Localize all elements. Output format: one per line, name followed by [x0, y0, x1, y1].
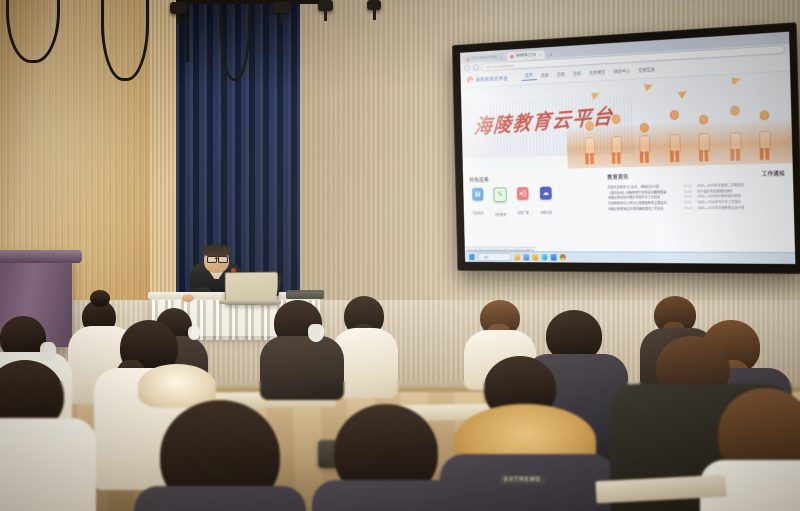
- app-tile[interactable]: ✎ 同步备课: [492, 187, 509, 220]
- site-brand[interactable]: 海陵教育云平台: [467, 74, 508, 83]
- hair-bun: [90, 290, 110, 307]
- nav-item-experience-center[interactable]: 体验中心: [609, 68, 634, 75]
- search-icon: ⌕: [481, 255, 482, 259]
- app-label: 校园广播: [518, 211, 529, 215]
- news-date: 03-22: [684, 184, 692, 189]
- back-arrow-icon[interactable]: [464, 65, 470, 72]
- lecture-hall-photo: 泰州市海陵区教育局 × 海陵教育云平台 × + https://yun.hled…: [0, 0, 800, 511]
- person-torso: [260, 336, 344, 400]
- notice-item[interactable]: 2025—2026学年度教研活动计划: [697, 205, 786, 211]
- featured-apps-section: 特色应用 ▤ 校园宣传 ✎ 同步备课 ◂)): [469, 173, 601, 226]
- brand-label: 海陵教育云平台: [476, 75, 509, 83]
- eyeglasses-bridge: [215, 258, 219, 259]
- news-item[interactable]: 海陵区教育局召开党风廉政建设工作会议 02-26: [608, 206, 692, 212]
- app-tile[interactable]: ◂)) 校园广播: [514, 187, 531, 220]
- app-tile[interactable]: ▤ 校园宣传: [470, 188, 487, 221]
- news-list: 网络安全教育"云"起来，海陵区这么做 03-22 《春风化雨》海陵教育开放周活动…: [608, 184, 692, 212]
- section-title-apps: 特色应用: [469, 173, 600, 183]
- search-placeholder: 搜索: [484, 255, 489, 259]
- news-title: 海陵区教育局召开党风廉政建设工作会议: [608, 206, 682, 212]
- news-date: 03-01: [684, 200, 692, 205]
- new-tab-button[interactable]: +: [547, 52, 555, 58]
- presenter-hand: [182, 294, 194, 302]
- track-light: [367, 0, 381, 10]
- flag-icon: [645, 82, 655, 92]
- mail-icon[interactable]: [551, 254, 557, 261]
- track-light: [170, 2, 187, 14]
- nav-item-apps[interactable]: 应用: [553, 72, 569, 78]
- tab-label: 海陵教育云平台: [516, 53, 537, 59]
- projection-screen: 泰州市海陵区教育局 × 海陵教育云平台 × + https://yun.hled…: [452, 22, 800, 274]
- chrome-browser-icon[interactable]: [560, 254, 566, 261]
- jacket-brand-label: EXTREME: [500, 476, 545, 484]
- nav-item-home[interactable]: 首页: [521, 73, 537, 81]
- hero-banner: 海陵教育云平台: [461, 71, 793, 171]
- lectern-top: [0, 250, 82, 263]
- tab-favicon-icon: [511, 54, 514, 58]
- edit-document-icon: ✎: [493, 187, 506, 202]
- content-sections: 特色应用 ▤ 校园宣传 ✎ 同步备课 ◂)): [463, 163, 794, 227]
- notice-list: 2025—2026学年度第二学期校历 关于组织申报课题的通知 2025—2026…: [697, 182, 786, 211]
- tab-favicon-icon: [466, 57, 469, 61]
- speaker-icon: ◂)): [517, 187, 529, 200]
- app-tile[interactable]: ☁ 海陵云盘: [537, 187, 554, 220]
- app-label: 同步备课: [495, 213, 506, 217]
- app-label: 校园宣传: [473, 211, 484, 215]
- taskbar-search-input[interactable]: ⌕ 搜索: [478, 253, 512, 261]
- nav-item-master-class[interactable]: 名师课堂: [585, 70, 609, 77]
- face-mask: [308, 324, 324, 342]
- news-more-button[interactable]: ···: [752, 172, 756, 177]
- nav-item-space[interactable]: 空间: [569, 71, 585, 77]
- news-date: 02-26: [684, 206, 692, 211]
- face-mask: [188, 326, 200, 340]
- laptop-keyboard: [219, 300, 281, 304]
- app-grid: ▤ 校园宣传 ✎ 同步备课 ◂)) 校园广播: [470, 186, 602, 221]
- news-date: 03-09: [684, 195, 692, 200]
- app-label: 海陵云盘: [541, 211, 552, 215]
- wall-pilaster: [150, 0, 176, 300]
- reload-icon[interactable]: [473, 64, 479, 71]
- weather-icon[interactable]: [514, 254, 520, 260]
- tab-label: 泰州市海陵区教育局: [471, 55, 497, 61]
- presentation-icon: ▤: [472, 188, 483, 201]
- face-mask: [40, 342, 56, 362]
- windows-taskbar: ⌕ 搜索: [465, 251, 796, 264]
- windows-start-icon[interactable]: [469, 254, 475, 260]
- lighting-track: [176, 0, 326, 4]
- track-light: [318, 0, 333, 11]
- tab-close-icon[interactable]: ×: [500, 55, 502, 59]
- edge-browser-icon[interactable]: [542, 254, 548, 260]
- swirl-logo-icon: [467, 76, 473, 84]
- desk-equipment: [286, 290, 324, 299]
- folder-icon[interactable]: [532, 254, 538, 260]
- news-columns: 网络安全教育"云"起来，海陵区这么做 03-22 《春风化雨》海陵教育开放周活动…: [608, 182, 787, 212]
- nav-item-interconnect[interactable]: 互联互通: [634, 67, 659, 74]
- news-section: 教育资讯 ··· 工作通知 网络安全教育"云"起来，海陵区这么做 03-22: [607, 169, 786, 226]
- cloud-icon: ☁: [540, 187, 552, 200]
- flag-icon: [732, 75, 742, 85]
- notice-title: 2025—2026学年度教研活动计划: [697, 205, 786, 211]
- nav-item-resources[interactable]: 资源: [537, 73, 553, 79]
- screen-panel: 泰州市海陵区教育局 × 海陵教育云平台 × + https://yun.hled…: [460, 32, 795, 264]
- track-light: [273, 1, 290, 13]
- tab-close-icon[interactable]: ×: [539, 53, 541, 57]
- section-title-notices: 工作通知: [762, 169, 786, 177]
- section-title-news: 教育资讯: [607, 173, 628, 181]
- website-viewport: 海陵教育云平台 首页 资源 应用 空间 名师课堂 体验中心 互联互通: [461, 55, 796, 264]
- news-date: 03-18: [684, 189, 692, 194]
- eyeglasses-icon: [218, 256, 228, 263]
- person-torso: [0, 418, 96, 511]
- flag-icon: [591, 90, 601, 100]
- file-explorer-icon[interactable]: [523, 254, 529, 260]
- person-torso: [134, 486, 306, 511]
